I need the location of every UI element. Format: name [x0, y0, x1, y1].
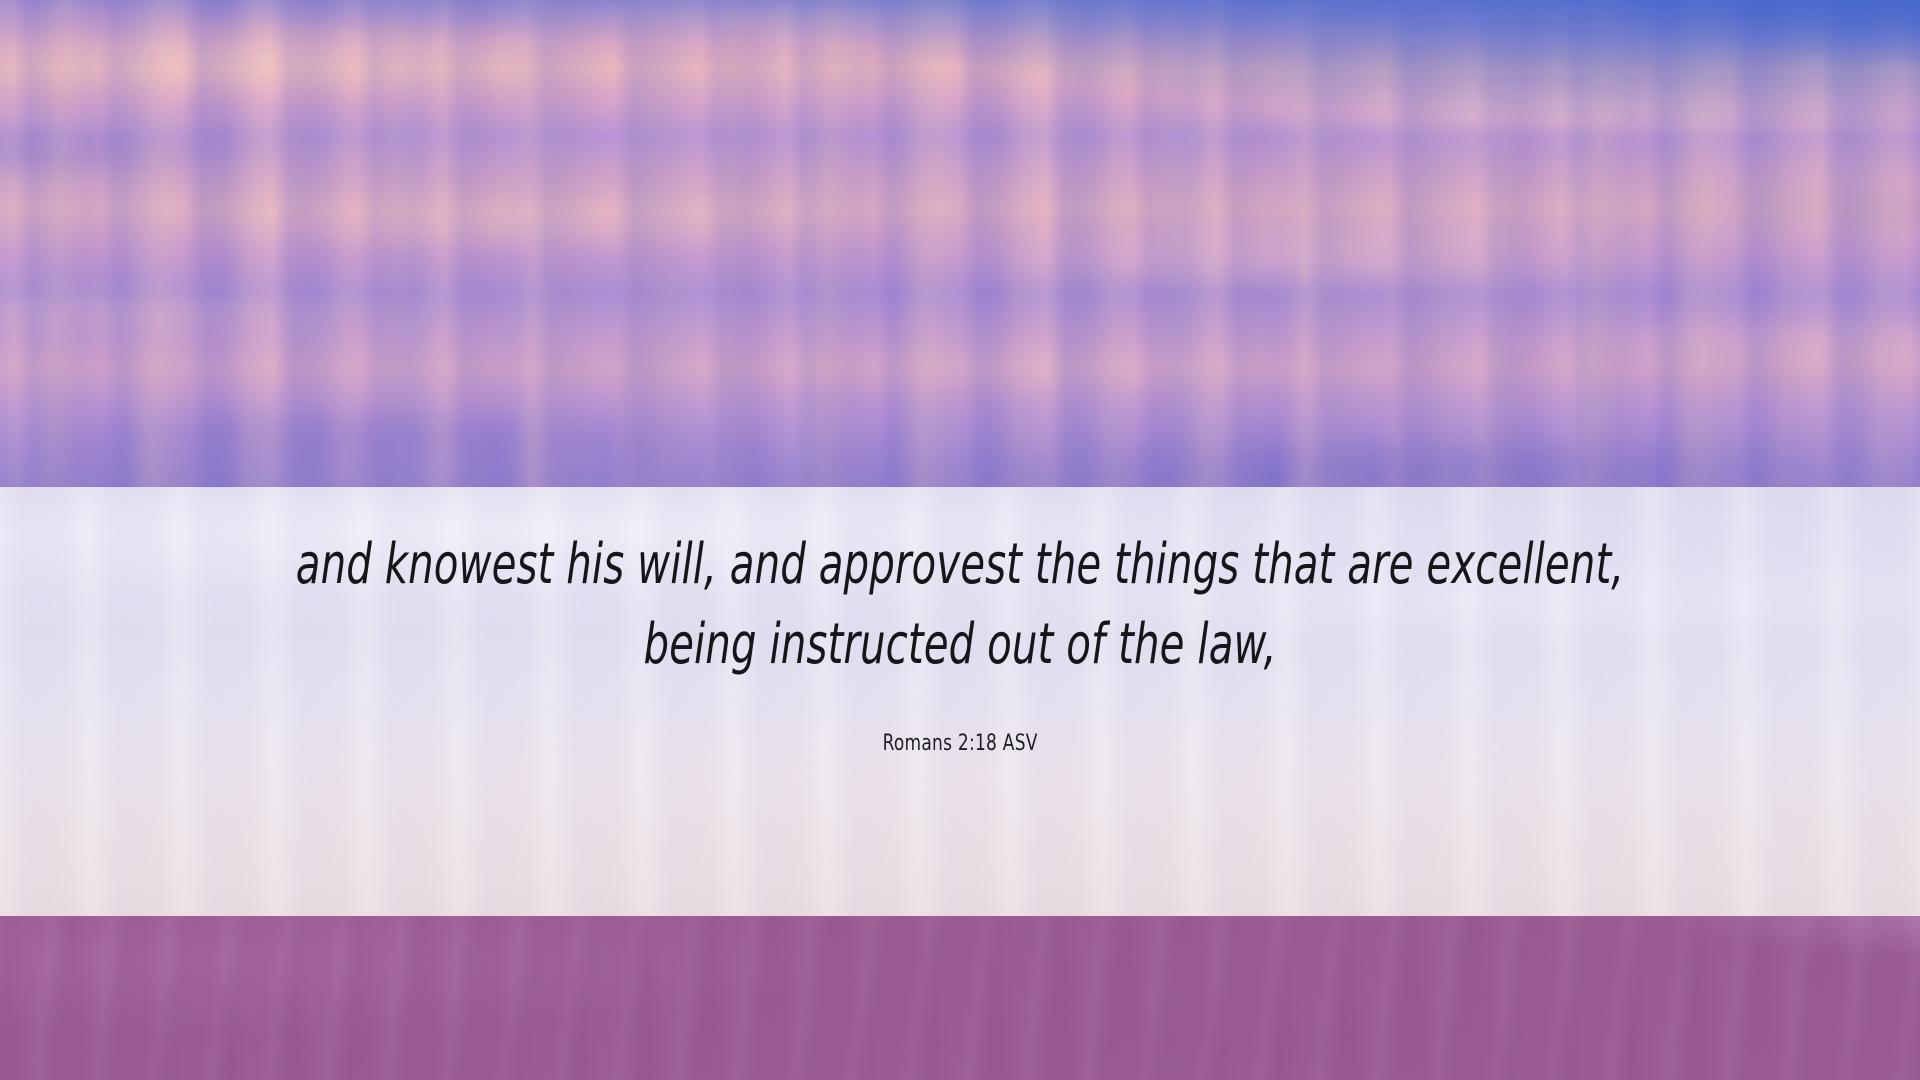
quote-content: and knowest his will, and approvest the …	[0, 487, 1920, 916]
sand-texture-overlay	[0, 916, 1920, 1080]
quote-line-2: instructed out of the law,	[769, 612, 1276, 677]
verse-attribution: Romans 2:18 ASV	[882, 731, 1037, 756]
mauve-sand-band	[0, 916, 1920, 1080]
quote-text: and knowest his will, and approvest the …	[256, 525, 1664, 685]
water-blur-overlay	[0, 0, 1920, 487]
scripture-image-canvas: and knowest his will, and approvest the …	[0, 0, 1920, 1080]
quote-band: and knowest his will, and approvest the …	[0, 487, 1920, 916]
sunset-water-photo-band	[0, 0, 1920, 487]
